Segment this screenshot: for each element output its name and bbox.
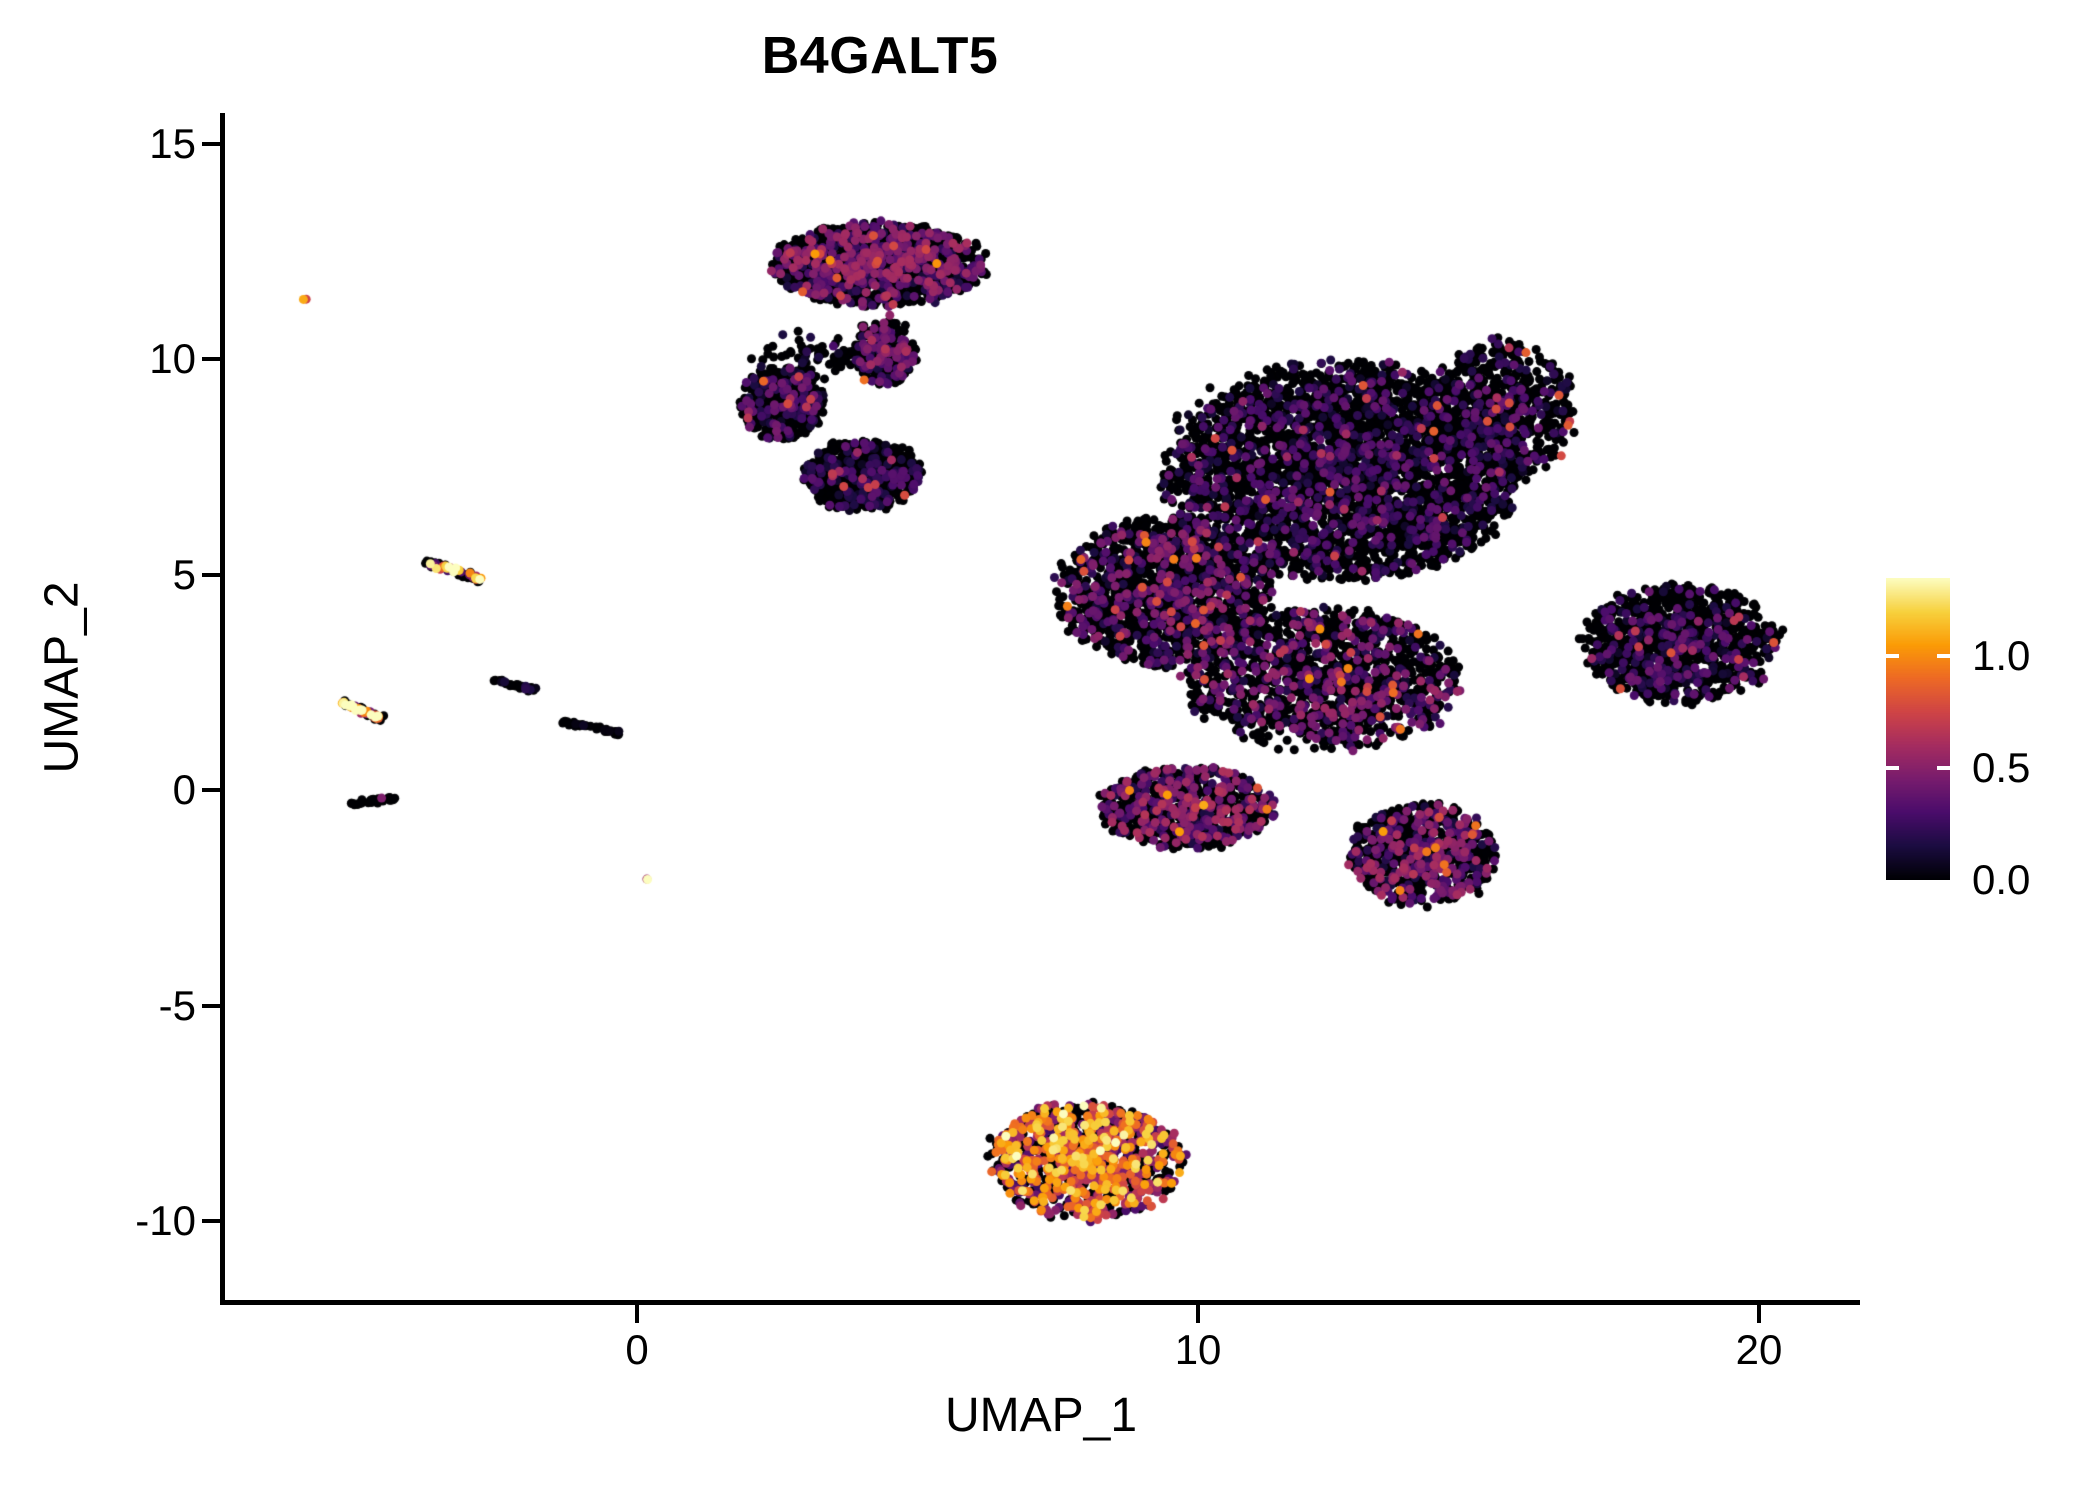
plot-panel (222, 118, 1860, 1303)
legend-gradient-bar (1886, 578, 1950, 880)
y-axis-line (220, 113, 225, 1305)
x-tick-label: 20 (1736, 1326, 1783, 1374)
y-tick-label: -5 (159, 982, 196, 1030)
y-tick-mark (202, 573, 220, 577)
y-tick-label: 5 (173, 551, 196, 599)
legend-tick-label: 0.0 (1972, 856, 2030, 904)
x-axis-title: UMAP_1 (222, 1388, 1860, 1443)
legend-tick-label: 1.0 (1972, 632, 2030, 680)
legend-tick-mark (1886, 654, 1899, 658)
y-tick-label: 15 (149, 120, 196, 168)
x-tick-label: 10 (1175, 1326, 1222, 1374)
x-tick-label: 0 (625, 1326, 648, 1374)
y-axis-title: UMAP_2 (35, 378, 90, 978)
legend-tick-mark (1937, 766, 1950, 770)
umap-feature-plot: B4GALT5 -10-5051015 01020 UMAP_1 UMAP_2 … (0, 0, 2100, 1500)
legend-tick-mark (1886, 766, 1899, 770)
y-tick-mark (202, 1219, 220, 1223)
legend-tick-label: 0.5 (1972, 744, 2030, 792)
x-axis-line (220, 1300, 1860, 1305)
y-tick-label: 0 (173, 766, 196, 814)
y-tick-label: -10 (135, 1197, 196, 1245)
x-tick-mark (635, 1305, 639, 1323)
page-title: B4GALT5 (0, 26, 1760, 86)
x-tick-mark (1757, 1305, 1761, 1323)
y-tick-mark (202, 788, 220, 792)
y-tick-label: 10 (149, 335, 196, 383)
y-tick-mark (202, 357, 220, 361)
x-tick-mark (1196, 1305, 1200, 1323)
scatter-points-layer (222, 118, 1860, 1303)
y-tick-mark (202, 1004, 220, 1008)
y-tick-mark (202, 142, 220, 146)
legend-tick-mark (1937, 654, 1950, 658)
